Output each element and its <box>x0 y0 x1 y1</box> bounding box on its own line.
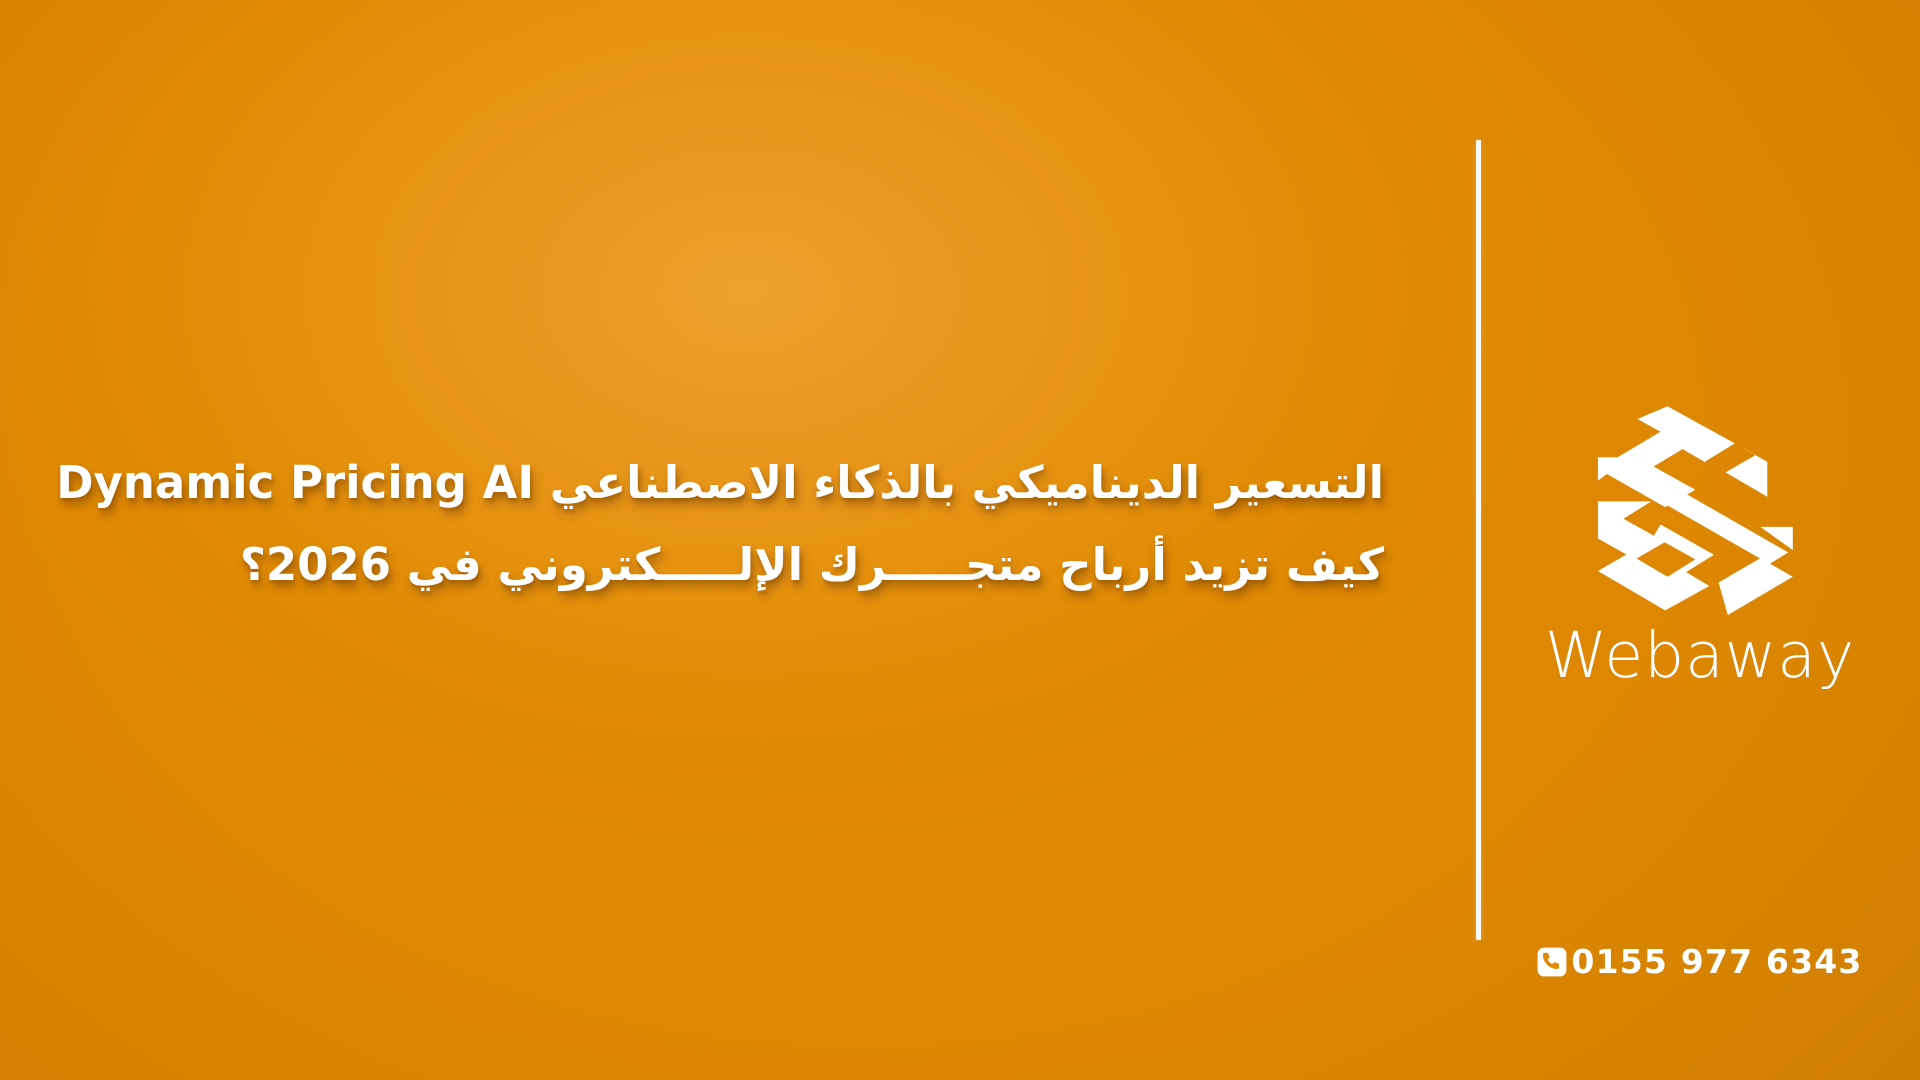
contact-phone[interactable]: 0155 977 6343 <box>1530 945 1870 978</box>
headline-block: التسعير الديناميكي بالذكاء الاصطناعي Dyn… <box>0 442 1384 606</box>
promo-banner: التسعير الديناميكي بالذكاء الاصطناعي Dyn… <box>0 0 1920 1080</box>
vertical-divider <box>1476 140 1481 940</box>
brand-lockup: Webaway <box>1530 390 1870 687</box>
phone-icon <box>1537 947 1567 977</box>
headline-line-2: كيف تزيد أرباح متجـــــرك الإلـــــكترون… <box>0 524 1384 606</box>
brand-name: Webaway <box>1530 624 1870 687</box>
webaway-hexagon-logo-icon <box>1584 390 1816 622</box>
phone-number: 0155 977 6343 <box>1571 945 1862 978</box>
headline-line-1: التسعير الديناميكي بالذكاء الاصطناعي Dyn… <box>0 442 1384 524</box>
